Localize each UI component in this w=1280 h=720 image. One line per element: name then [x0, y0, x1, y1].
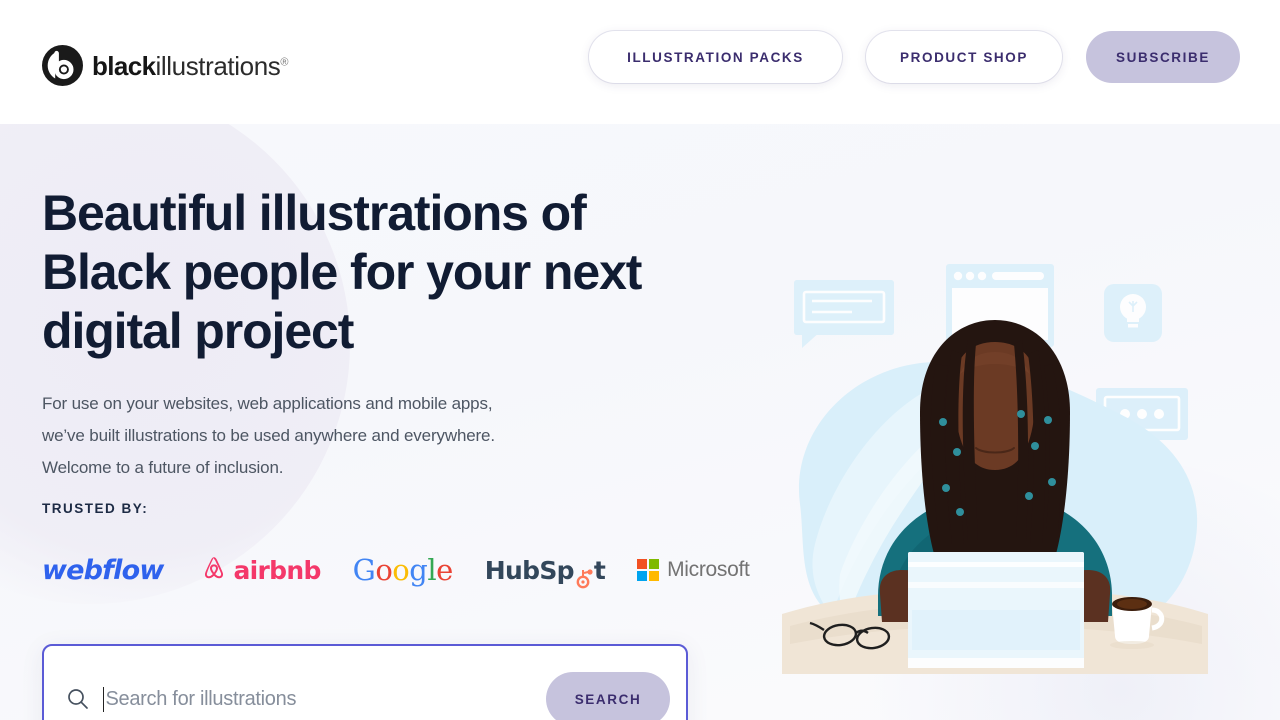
nav-illustration-packs-button[interactable]: ILLUSTRATION PACKS — [589, 31, 842, 83]
brand-logo-microsoft: Microsoft — [637, 550, 749, 590]
search-field[interactable] — [103, 682, 546, 716]
search-bar[interactable]: SEARCH — [42, 644, 688, 720]
hero-illustration — [760, 244, 1230, 674]
logo-word-black: black — [92, 51, 156, 81]
main-navigation: ILLUSTRATION PACKS PRODUCT SHOP SUBSCRIB… — [589, 31, 1240, 83]
nav-product-shop-button[interactable]: PRODUCT SHOP — [866, 31, 1062, 83]
hubspot-wordmark: HubSp — [485, 556, 574, 585]
brand-logo-google: Google — [353, 550, 453, 590]
lightbulb-icon — [1104, 284, 1162, 342]
page-title: Beautiful illustrations of Black people … — [42, 184, 702, 361]
trusted-by-logos: webflow airbnb Google HubSp — [42, 550, 750, 590]
hubspot-wordmark-end: t — [594, 556, 605, 585]
webflow-wordmark: webflow — [42, 555, 163, 586]
microsoft-squares-icon — [637, 559, 659, 581]
nav-subscribe-button[interactable]: SUBSCRIBE — [1086, 31, 1240, 83]
airbnb-wordmark: airbnb — [233, 556, 320, 585]
brand-logo-webflow: webflow — [42, 550, 163, 590]
black-illustrations-b-mark-icon — [42, 45, 83, 86]
search-input[interactable] — [105, 688, 546, 711]
hero-section: Beautiful illustrations of Black people … — [0, 124, 1280, 720]
laptop — [908, 552, 1084, 668]
trusted-by-label: TRUSTED BY: — [42, 501, 148, 516]
logo-word-illustrations: illustrations — [156, 51, 281, 81]
logo-wordmark: blackillustrations® — [92, 53, 288, 79]
brand-logo-hubspot: HubSp t — [485, 550, 605, 590]
registered-mark: ® — [280, 56, 288, 68]
google-wordmark: Google — [353, 553, 453, 587]
site-header: blackillustrations® ILLUSTRATION PACKS P… — [0, 0, 1280, 124]
search-button[interactable]: SEARCH — [546, 672, 670, 720]
brand-logo-airbnb: airbnb — [200, 550, 320, 590]
airbnb-belo-icon — [200, 554, 228, 587]
search-icon — [66, 687, 90, 711]
text-caret — [103, 687, 104, 712]
chat-bubble-icon — [794, 280, 894, 348]
site-logo[interactable]: blackillustrations® — [42, 44, 288, 86]
hero-subcopy: For use on your websites, web applicatio… — [42, 388, 512, 484]
microsoft-wordmark: Microsoft — [667, 558, 749, 582]
